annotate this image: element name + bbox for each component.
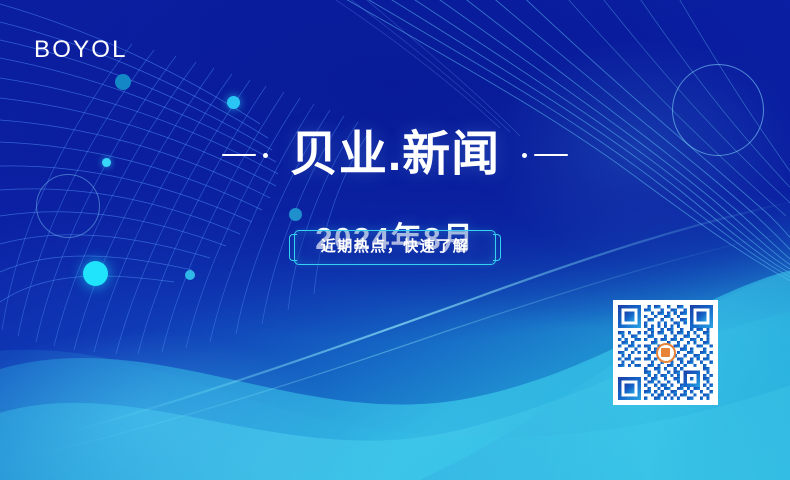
- qr-canvas: [618, 305, 713, 400]
- qr-center-logo: [656, 343, 676, 363]
- deco-line-left: [222, 154, 256, 156]
- deco-dot-left: [263, 153, 268, 158]
- brand-logo: BOYOL: [34, 38, 128, 62]
- page-title: 贝业.新闻: [290, 128, 500, 182]
- deco-line-right: [534, 154, 568, 156]
- title-row: 贝业.新闻: [222, 96, 568, 214]
- decor-dot-a: [115, 74, 131, 90]
- news-banner: BOYOL 贝业.新闻 2024年8月 近期热点，快速了解: [0, 0, 790, 480]
- qr-code[interactable]: [613, 300, 718, 405]
- dash-dot-line-right-icon: [522, 153, 568, 158]
- decor-dot-f: [185, 270, 195, 280]
- tagline-badge[interactable]: 近期热点，快速了解: [294, 230, 497, 265]
- qr-center-logo-mark: [661, 348, 670, 357]
- brand-logo-text: BOYOL: [34, 38, 128, 62]
- deco-dot-right: [522, 153, 527, 158]
- tagline-wrapper: 近期热点，快速了解: [0, 230, 790, 265]
- dash-dot-line-left-icon: [222, 153, 268, 158]
